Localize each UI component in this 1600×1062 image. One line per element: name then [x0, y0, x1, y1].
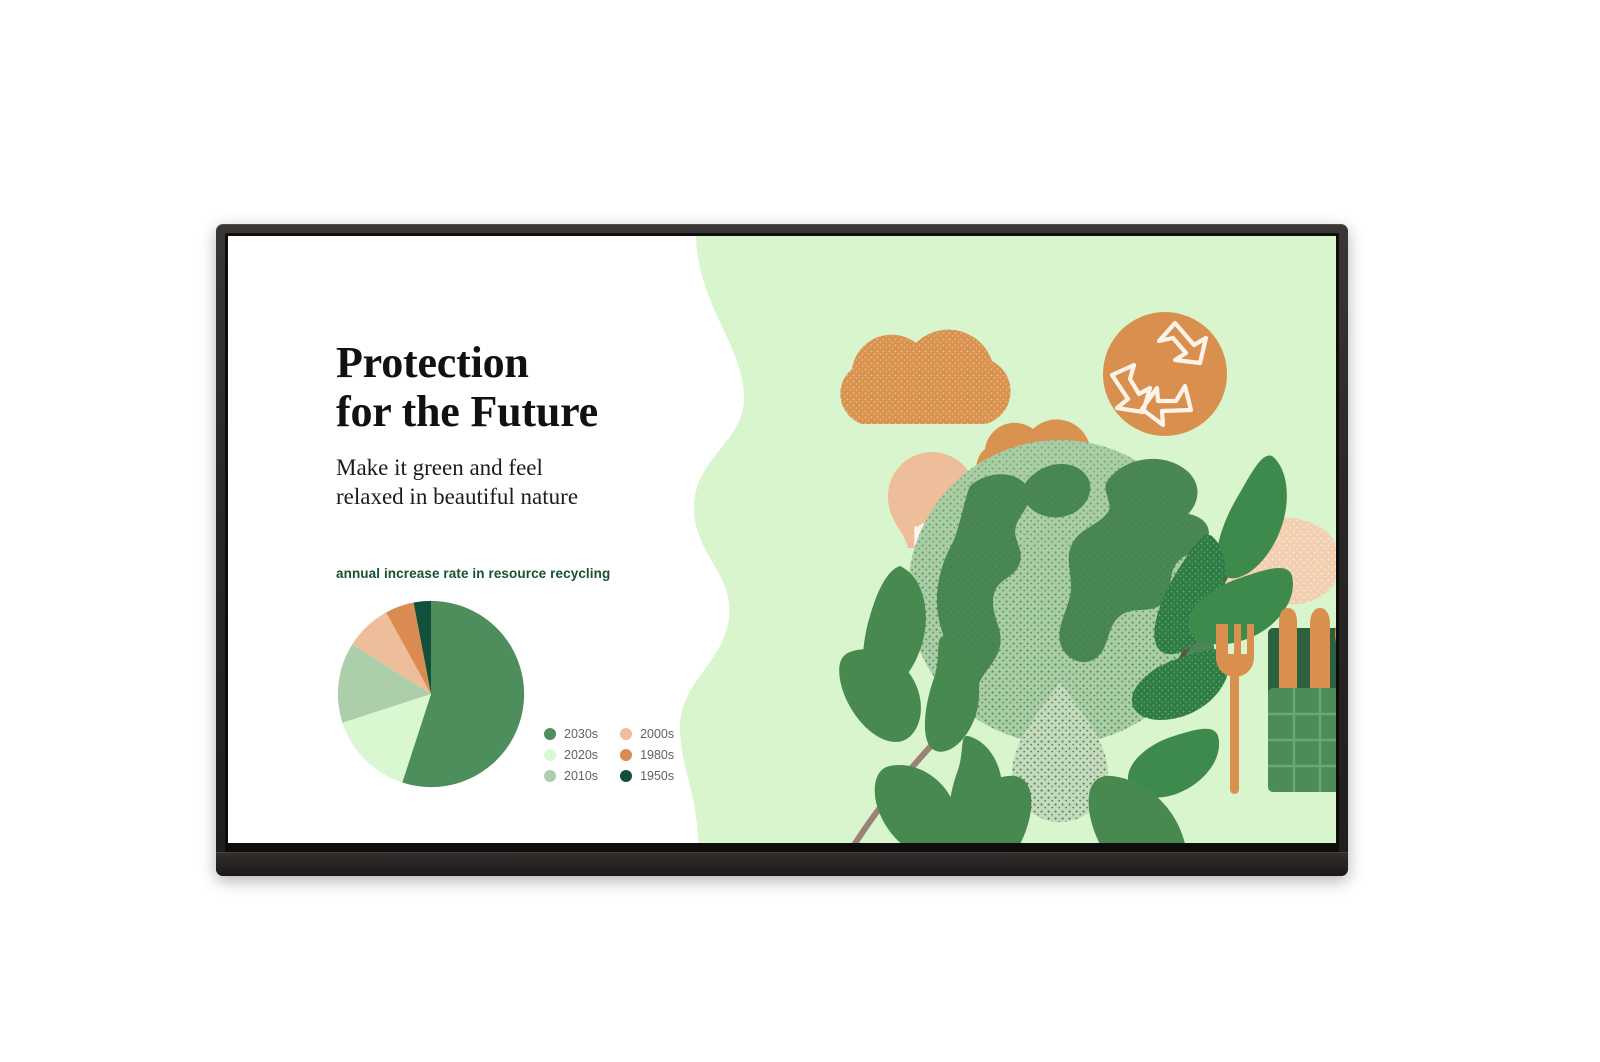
legend-label: 2010s — [564, 769, 598, 783]
legend-swatch-icon — [620, 749, 632, 761]
slide-text-column: Protection for the Future Make it green … — [336, 338, 696, 511]
pie-chart — [336, 599, 526, 789]
chart-legend: 2030s2000s2020s1980s2010s1950s — [544, 727, 674, 783]
legend-item: 2010s — [544, 769, 598, 783]
legend-label: 2020s — [564, 748, 598, 762]
legend-item: 1950s — [620, 769, 674, 783]
legend-label: 1950s — [640, 769, 674, 783]
monitor-bezel-bottom — [216, 852, 1348, 876]
legend-label: 2000s — [640, 727, 674, 741]
legend-label: 2030s — [564, 727, 598, 741]
legend-swatch-icon — [620, 770, 632, 782]
legend-swatch-icon — [544, 749, 556, 761]
legend-swatch-icon — [544, 728, 556, 740]
legend-swatch-icon — [544, 770, 556, 782]
chart-block: annual increase rate in resource recycli… — [336, 566, 776, 789]
legend-item: 2000s — [620, 727, 674, 741]
slide-headline: Protection for the Future — [336, 338, 696, 437]
slide-subheadline: Make it green and feel relaxed in beauti… — [336, 453, 696, 512]
legend-item: 2030s — [544, 727, 598, 741]
legend-swatch-icon — [620, 728, 632, 740]
screen[interactable]: Protection for the Future Make it green … — [228, 236, 1336, 843]
chart-title: annual increase rate in resource recycli… — [336, 566, 776, 581]
monitor: Protection for the Future Make it green … — [216, 224, 1348, 876]
legend-item: 1980s — [620, 748, 674, 762]
legend-label: 1980s — [640, 748, 674, 762]
legend-item: 2020s — [544, 748, 598, 762]
